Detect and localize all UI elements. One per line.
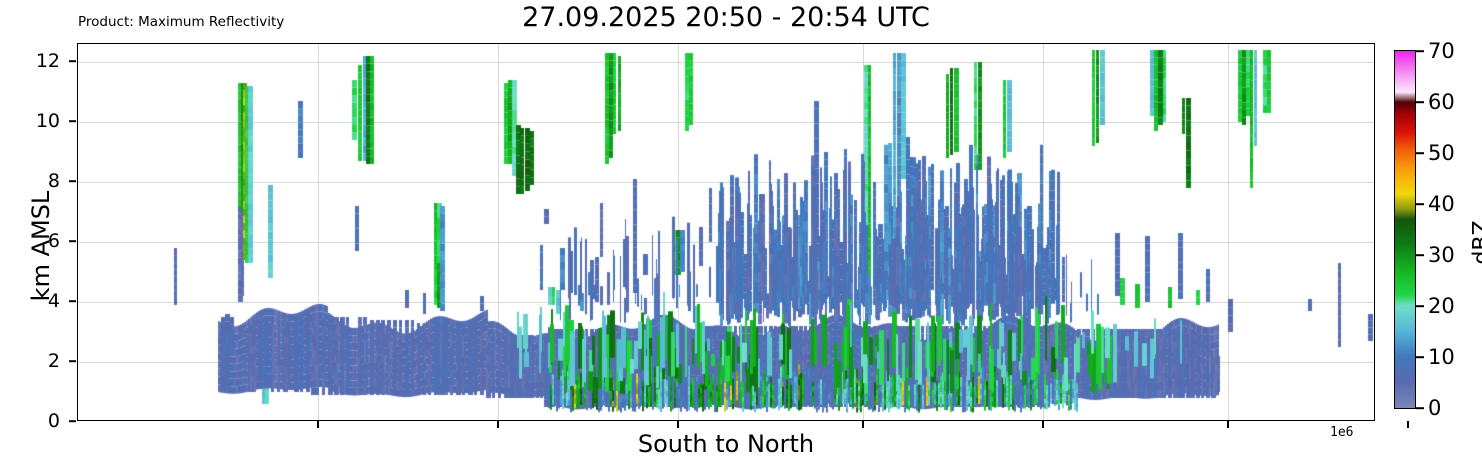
y-tick-mark <box>69 180 76 182</box>
colorbar-tick-label: 70 <box>1428 39 1455 63</box>
y-tick-mark <box>69 420 76 422</box>
y-tick-label: 10 <box>36 110 60 132</box>
colorbar-tick-mark <box>1416 356 1424 358</box>
colorbar-tick-mark <box>1416 50 1424 52</box>
colorbar-tick-label: 60 <box>1428 90 1455 114</box>
colorbar-tick-mark <box>1416 254 1424 256</box>
colorbar <box>1395 51 1415 408</box>
x-axis-label: South to North <box>77 430 1375 458</box>
colorbar-tick-label: 30 <box>1428 243 1455 267</box>
x-tick-mark <box>677 421 679 428</box>
reflectivity-heatmap <box>78 44 1375 421</box>
x-tick-mark <box>1042 421 1044 428</box>
x-tick-mark <box>317 421 319 428</box>
y-tick-label: 0 <box>48 410 60 432</box>
x-axis-offset-text: 1e6 <box>1330 425 1353 440</box>
y-tick-mark <box>69 300 76 302</box>
colorbar-tick-label: 0 <box>1428 396 1441 420</box>
colorbar-tick-mark <box>1416 305 1424 307</box>
colorbar-tick-mark <box>1416 203 1424 205</box>
y-tick-label: 12 <box>36 50 60 72</box>
colorbar-tick-mark <box>1416 152 1424 154</box>
colorbar-tick-label: 50 <box>1428 141 1455 165</box>
x-tick-mark <box>1227 421 1229 428</box>
colorbar-tick-mark <box>1416 101 1424 103</box>
colorbar-tick-label: 20 <box>1428 294 1455 318</box>
colorbar-label: dBZ <box>1470 183 1482 303</box>
y-tick-mark <box>69 360 76 362</box>
plot-area <box>77 43 1375 421</box>
y-tick-mark <box>69 60 76 62</box>
product-annotation: Product: Maximum Reflectivity <box>78 14 284 30</box>
y-axis-label: km AMSL <box>27 161 55 331</box>
y-tick-mark <box>69 120 76 122</box>
colorbar-tick-label: 10 <box>1428 345 1455 369</box>
figure-canvas: 27.09.2025 20:50 - 20:54 UTC Product: Ma… <box>0 0 1482 470</box>
x-tick-mark <box>1407 421 1409 428</box>
colorbar-gradient <box>1394 50 1416 409</box>
y-tick-label: 2 <box>48 350 60 372</box>
colorbar-tick-label: 40 <box>1428 192 1455 216</box>
x-tick-mark <box>497 421 499 428</box>
colorbar-tick-mark <box>1416 407 1424 409</box>
y-tick-mark <box>69 240 76 242</box>
x-tick-mark <box>862 421 864 428</box>
